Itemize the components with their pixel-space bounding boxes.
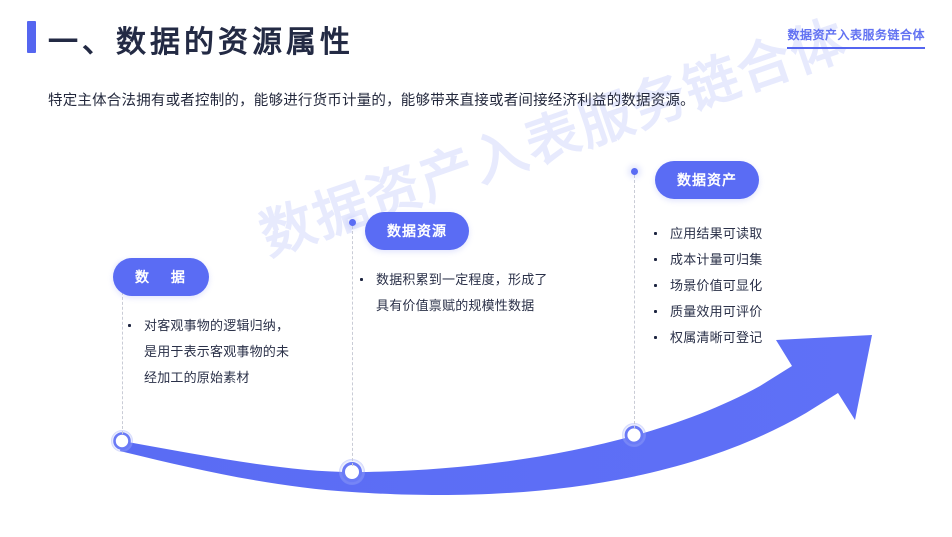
list-item: 数据积累到一定程度，形成了具有价值禀赋的规模性数据	[358, 267, 558, 319]
brand-label: 数据资产入表服务链合体	[787, 26, 925, 43]
page-title: 一、数据的资源属性	[48, 17, 354, 61]
list-item: 质量效用可评价	[652, 299, 842, 325]
milestone-bullets-asset: 应用结果可读取 成本计量可归集 场景价值可显化 质量效用可评价 权属清晰可登记	[652, 221, 842, 351]
brand-underline	[787, 47, 925, 49]
list-item: 对客观事物的逻辑归纳，是用于表示客观事物的未经加工的原始素材	[126, 313, 301, 391]
milestone-badge-data[interactable]: 数 据	[113, 258, 209, 296]
milestone-bullets-resource: 数据积累到一定程度，形成了具有价值禀赋的规模性数据	[358, 267, 558, 319]
list-item: 场景价值可显化	[652, 273, 842, 299]
milestone-resource: 数据资源 数据积累到一定程度，形成了具有价值禀赋的规模性数据	[345, 212, 560, 319]
slide-canvas: 数据资产入表服务链合体 一、数据的资源属性 数据资产入表服务链合体 特定主体合法…	[0, 0, 952, 537]
milestone-data: 数 据 对客观事物的逻辑归纳，是用于表示客观事物的未经加工的原始素材	[113, 258, 313, 391]
milestone-asset: 数据资产 应用结果可读取 成本计量可归集 场景价值可显化 质量效用可评价 权属清…	[627, 161, 847, 351]
title-accent-bar	[27, 21, 36, 53]
milestone-badge-asset[interactable]: 数据资产	[655, 161, 759, 199]
milestone-badge-resource[interactable]: 数据资源	[365, 212, 469, 250]
page-subtitle: 特定主体合法拥有或者控制的，能够进行货币计量的，能够带来直接或者间接经济利益的数…	[48, 89, 695, 110]
list-item: 权属清晰可登记	[652, 325, 842, 351]
list-item: 应用结果可读取	[652, 221, 842, 247]
list-item: 成本计量可归集	[652, 247, 842, 273]
milestone-bullets-data: 对客观事物的逻辑归纳，是用于表示客观事物的未经加工的原始素材	[126, 313, 301, 391]
brand-mark: 数据资产入表服务链合体	[787, 26, 925, 49]
